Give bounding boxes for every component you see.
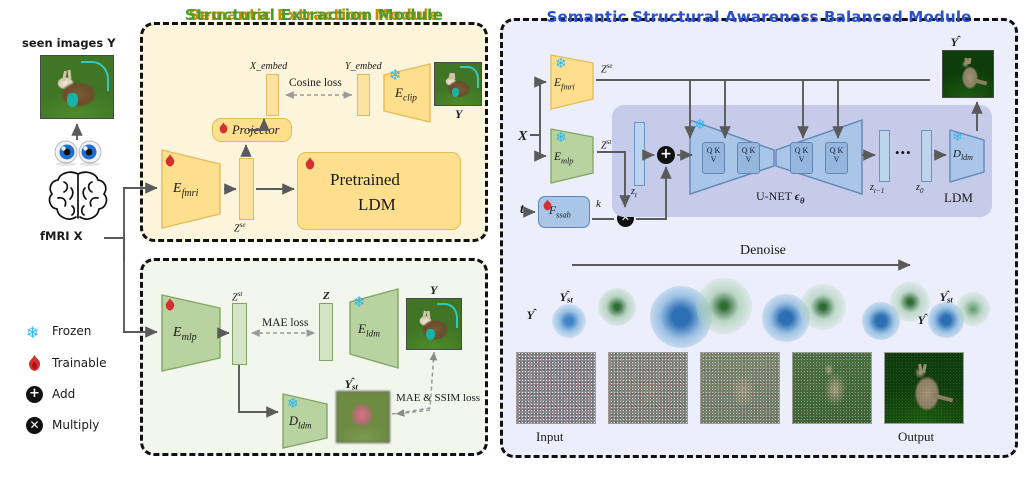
times-circle-icon: ✕	[26, 417, 43, 434]
snowflake-icon: ❄	[353, 295, 366, 310]
ssab-decoder-label: Dldm	[953, 148, 973, 162]
attention-block-2: Q KV	[737, 142, 760, 174]
attention-block-1: Q KV	[702, 142, 725, 174]
clip-encoder-label: Eclip	[395, 85, 417, 104]
blob-blue-1	[552, 304, 586, 338]
zt-minus-1-label: zt−1	[870, 182, 884, 195]
input-caption: Input	[536, 429, 563, 445]
attention-block-3: Q KV	[790, 142, 813, 174]
legend-label-add: Add	[52, 387, 75, 401]
pretrained-ldm-label-1: Pretrained	[330, 170, 400, 190]
semantic-target-image	[434, 62, 482, 106]
denoise-label: Denoise	[740, 243, 786, 259]
blob-green-3	[800, 284, 846, 330]
structural-zst-label: Zst	[232, 290, 242, 303]
structural-mlp-encoder: Emlp	[160, 293, 222, 373]
legend-label-frozen: Frozen	[52, 324, 91, 338]
ssab-function-label: Fssab	[549, 205, 571, 219]
ssab-input-x: X	[518, 129, 527, 145]
semantic-target-image-label: Y	[455, 107, 462, 122]
zt-bar	[634, 122, 645, 186]
denoise-step-1	[516, 352, 596, 424]
structural-zst-bar	[232, 303, 247, 365]
cosine-loss-label: Cosine loss	[289, 77, 342, 89]
snowflake-icon: ❄	[555, 131, 567, 145]
z0-label: z0	[916, 182, 924, 195]
ssab-mlp-encoder: Emlp ❄	[549, 127, 595, 185]
snowflake-icon: ❄	[694, 118, 706, 132]
blob-label-yhatst-left: ̂Yst	[567, 288, 573, 304]
semantic-fmri-encoder-label: Efmri	[173, 181, 198, 199]
structural-decoder: Dldm ❄	[281, 392, 329, 450]
semantic-fmri-encoder: Efmri	[160, 148, 222, 230]
ssab-fmri-encoder: Efmri ❄	[549, 53, 595, 111]
legend-label-multiply: Multiply	[52, 418, 99, 432]
snowflake-icon: ❄	[555, 57, 567, 71]
structural-target-image	[406, 298, 462, 350]
ssab-mlp-encoder-label: Emlp	[554, 151, 573, 165]
mae-ssim-loss-label: MAE & SSIM loss	[396, 392, 480, 404]
snowflake-icon: ❄	[287, 397, 299, 411]
projector-label: Projector	[232, 123, 279, 138]
snowflake-icon: ❄	[389, 68, 402, 83]
mae-loss-label: MAE loss	[262, 317, 308, 329]
plus-circle-icon: +	[657, 146, 675, 164]
flame-icon	[165, 154, 175, 172]
clip-encoder: Eclip ❄	[382, 62, 432, 124]
pretrained-ldm-label-2: LDM	[358, 195, 396, 215]
flame-icon	[543, 198, 552, 216]
unet-label: U-NET ϵθ	[756, 189, 804, 205]
attention-block-4: Q KV	[825, 142, 848, 174]
y-embed-label: Y_embed	[345, 61, 382, 72]
ssab-k-label: k	[596, 198, 601, 210]
ssab-zse-label: Zse	[601, 62, 613, 75]
plus-circle-icon: +	[26, 386, 43, 403]
flame-icon	[305, 157, 315, 175]
flame-icon	[165, 298, 175, 316]
zt-minus-1-bar	[879, 130, 890, 182]
structural-z-label: Z	[323, 290, 330, 302]
ssab-decoder: Dldm ❄	[948, 128, 986, 184]
denoise-step-5	[884, 352, 964, 424]
z0-bar	[921, 130, 932, 182]
structural-recon-label: ̂Yst	[352, 375, 358, 391]
eye-icon	[50, 140, 106, 166]
flame-icon	[219, 121, 228, 139]
structural-target-image-label: Y	[430, 283, 437, 298]
structural-recon-image	[336, 391, 390, 443]
seen-image-thumbnail	[40, 55, 114, 119]
blob-label-yhatst-right: ̂Yst	[947, 288, 953, 304]
ldm-panel-label: LDM	[944, 190, 973, 206]
pretrained-ldm-box	[297, 152, 461, 230]
blob-green-1	[598, 288, 636, 326]
denoise-step-3	[700, 352, 780, 424]
ssab-module-title: Semantic Structural Awareness Balanced M…	[500, 8, 1018, 26]
seen-images-label: seen images Y	[22, 36, 116, 50]
structural-z-bar	[319, 303, 333, 361]
y-embed-bar	[357, 74, 370, 116]
denoise-blobs	[528, 280, 988, 342]
structural-module-title: Structural Extraction Module	[140, 6, 488, 24]
fmri-label: fMRI X	[40, 229, 82, 243]
x-embed-bar	[266, 74, 279, 116]
ssab-zst-label: Zst	[601, 138, 611, 151]
legend: ❄ Frozen Trainable + Add ✕ Multiply	[24, 322, 134, 452]
ssab-input-t: t	[520, 202, 524, 218]
legend-label-trainable: Trainable	[52, 356, 106, 370]
snowflake-icon: ❄	[952, 131, 963, 144]
ssab-fmri-encoder-label: Efmri	[554, 77, 575, 91]
snowflake-icon: ❄	[26, 323, 39, 342]
structural-decoder-label: Dldm	[289, 414, 312, 431]
structural-ldm-encoder-label: Eldm	[358, 321, 380, 340]
ssab-output-image	[942, 50, 994, 98]
zt-label: zt	[631, 186, 637, 199]
ellipsis-dots: •••	[895, 145, 912, 161]
denoise-step-4	[792, 352, 872, 424]
structural-mlp-encoder-label: Emlp	[173, 325, 197, 343]
semantic-zse-bar	[239, 158, 254, 220]
brain-icon	[44, 168, 112, 226]
denoise-step-2	[608, 352, 688, 424]
semantic-zse-label: Zse	[234, 221, 246, 234]
blob-green-5	[956, 292, 990, 326]
blob-green-2	[696, 278, 752, 334]
structural-ldm-encoder: Eldm ❄	[348, 287, 400, 371]
output-caption: Output	[898, 429, 934, 445]
flame-icon	[28, 355, 41, 376]
x-embed-label: X_embed	[250, 61, 287, 72]
